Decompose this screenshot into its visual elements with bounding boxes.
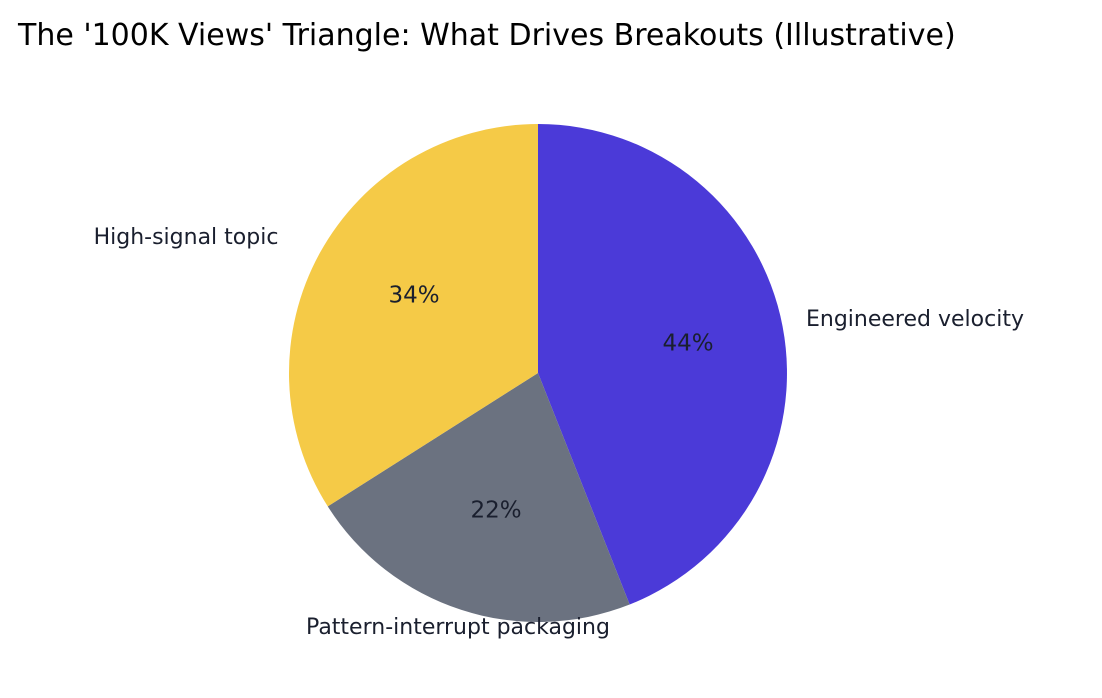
pie-percent-label: 34% — [388, 283, 439, 309]
pie-category-label: Engineered velocity — [806, 307, 1024, 332]
pie-category-label: Pattern-interrupt packaging — [306, 615, 610, 640]
chart-figure: The '100K Views' Triangle: What Drives B… — [0, 0, 1102, 698]
pie-percent-label: 22% — [470, 498, 521, 524]
pie-chart: 44%22%34% Engineered velocityPattern-int… — [0, 0, 1102, 698]
pie-category-label: High-signal topic — [94, 225, 279, 250]
pie-percent-label: 44% — [662, 331, 713, 357]
pie-slices-group — [289, 124, 787, 622]
